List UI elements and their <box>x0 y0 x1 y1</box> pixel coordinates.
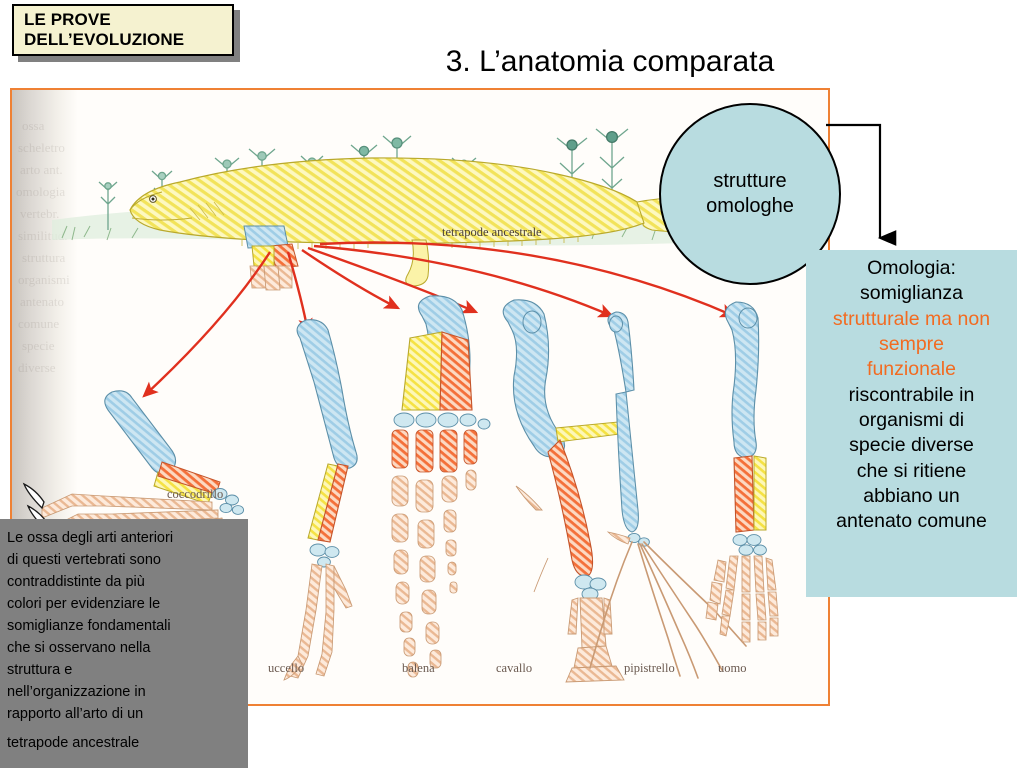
omologia-definition-box: Omologia: somiglianza strutturale ma non… <box>806 250 1017 597</box>
omologia-line: somiglianza <box>809 281 1014 306</box>
uomo-ulna <box>734 456 754 532</box>
omologia-line: abbiano un <box>809 484 1014 509</box>
label-uomo: uomo <box>718 661 746 675</box>
figure-caption-note: Le ossa degli arti anteriori di questi v… <box>0 519 248 768</box>
note-line: colori per evidenziare le <box>7 593 242 615</box>
svg-text:ossa: ossa <box>22 118 45 133</box>
page-title: 3. L’anatomia comparata <box>300 45 920 78</box>
title-box: LE PROVE DELL’EVOLUZIONE <box>12 4 234 56</box>
svg-text:arto ant.: arto ant. <box>20 162 63 177</box>
omologia-line: strutturale ma non <box>809 307 1014 332</box>
omologia-line: organismi di <box>809 408 1014 433</box>
note-line: rapporto all’arto di un <box>7 703 242 725</box>
note-line: tetrapode ancestrale <box>7 732 242 754</box>
omologia-line: che si ritiene <box>809 459 1014 484</box>
svg-text:organismi: organismi <box>18 272 70 287</box>
omologia-line: specie diverse <box>809 433 1014 458</box>
label-uccello: uccello <box>268 661 304 675</box>
label-cavallo: cavallo <box>496 661 532 675</box>
note-line: nell’organizzazione in <box>7 681 242 703</box>
note-line: contraddistinte da più <box>7 571 242 593</box>
svg-text:specie: specie <box>22 338 55 353</box>
callout-line-1: strutture <box>713 169 786 194</box>
note-line: di questi vertebrati sono <box>7 549 242 571</box>
label-pipistrello: pipistrello <box>624 661 675 675</box>
svg-text:antenato: antenato <box>20 294 64 309</box>
title-line-1: LE PROVE <box>24 10 232 30</box>
svg-text:scheletro: scheletro <box>18 140 65 155</box>
callout-line-2: omologhe <box>706 194 794 219</box>
note-line: struttura e <box>7 659 242 681</box>
svg-text:struttura: struttura <box>22 250 66 265</box>
omologia-line: antenato comune <box>809 509 1014 534</box>
callout-connector-arrow <box>818 112 898 252</box>
label-balena: balena <box>402 661 435 675</box>
omologia-line: riscontrabile in <box>809 383 1014 408</box>
balena-ulna <box>440 332 472 410</box>
note-line: che si osservano nella <box>7 637 242 659</box>
omologia-line: Omologia: <box>809 256 1014 281</box>
label-coccodrillo: coccodrillo <box>167 487 223 501</box>
svg-text:omologia: omologia <box>16 184 65 199</box>
omologia-line: sempre <box>809 332 1014 357</box>
svg-text:comune: comune <box>18 316 59 331</box>
svg-text:vertebr.: vertebr. <box>20 206 59 221</box>
uomo-radius <box>754 456 766 530</box>
note-line: Le ossa degli arti anteriori <box>7 527 242 549</box>
svg-text:diverse: diverse <box>18 360 56 375</box>
note-line: somiglianze fondamentali <box>7 615 242 637</box>
omologia-line: funzionale <box>809 357 1014 382</box>
title-line-2: DELL’EVOLUZIONE <box>24 30 232 50</box>
ancestor-label: tetrapode ancestrale <box>442 225 542 239</box>
